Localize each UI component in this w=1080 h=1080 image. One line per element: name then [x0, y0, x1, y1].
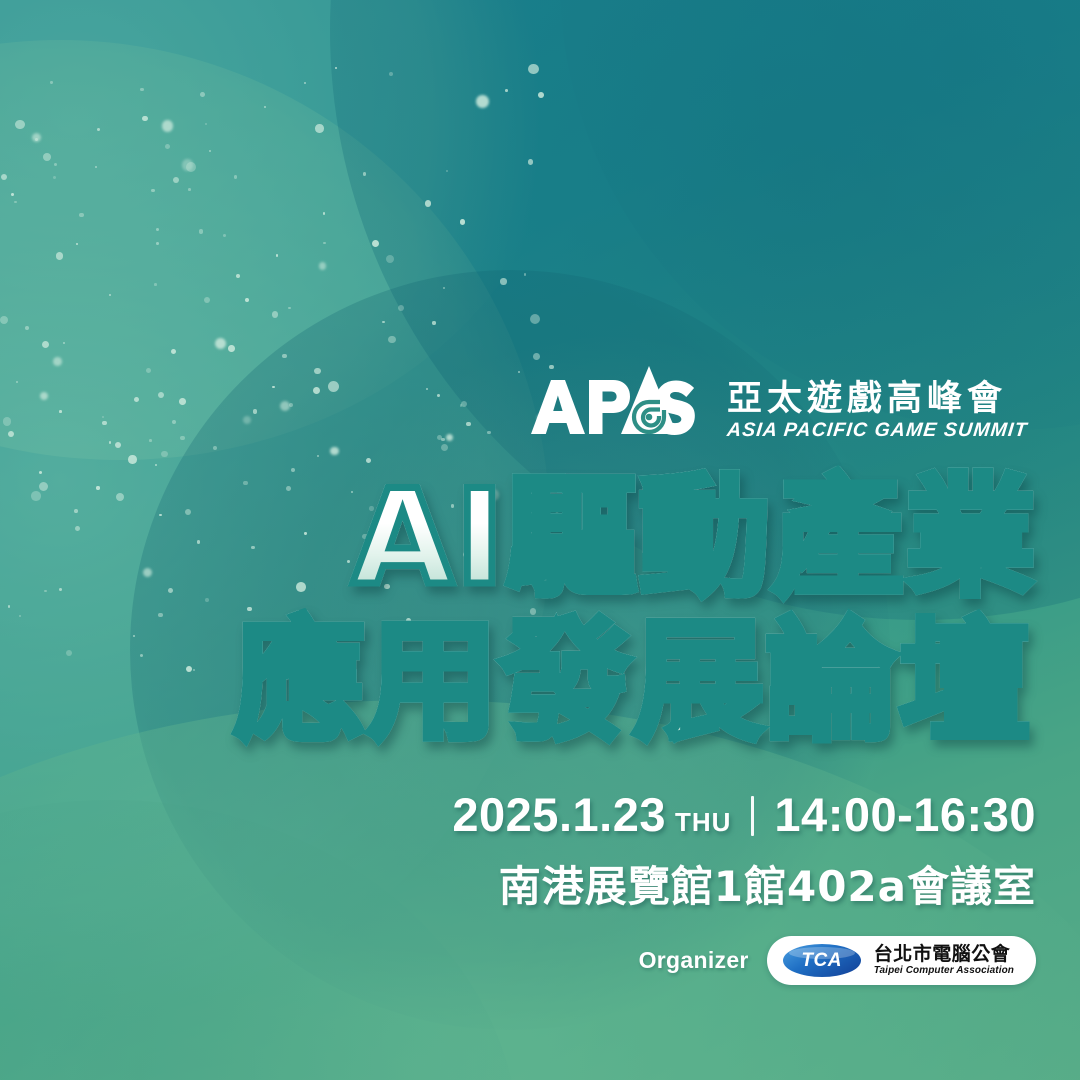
tca-abbr: TCA [801, 950, 842, 972]
apgs-logo-lockup: 亞太遊戲高峰會 ASIA PACIFIC GAME SUMMIT [527, 358, 1027, 442]
headline-line-1: AI驅動產業 [0, 466, 1038, 610]
tca-name-block: 台北市電腦公會 Taipei Computer Association [874, 945, 1014, 976]
tca-oval-icon: TCA [783, 944, 861, 977]
event-date: 2025.1.23 [452, 787, 666, 842]
tca-name-english: Taipei Computer Association [874, 966, 1014, 976]
datetime-separator-icon [751, 796, 754, 836]
headline-block: AI驅動產業 應用發展論壇 [0, 466, 1038, 754]
poster-canvas: 亞太遊戲高峰會 ASIA PACIFIC GAME SUMMIT AI驅動產業 … [0, 0, 1080, 1080]
content-layer: 亞太遊戲高峰會 ASIA PACIFIC GAME SUMMIT AI驅動產業 … [0, 0, 1080, 1080]
apgs-chinese-name: 亞太遊戲高峰會 [727, 382, 1027, 417]
event-venue: 南港展覽館1館402a會議室 [499, 853, 1036, 914]
apgs-wordmark-icon [527, 358, 707, 442]
apgs-english-name: ASIA PACIFIC GAME SUMMIT [726, 421, 1029, 441]
organizer-logo-badge: TCA 台北市電腦公會 Taipei Computer Association [767, 936, 1036, 985]
organizer-row: Organizer TCA 台北市電腦公會 Taipei Computer As… [639, 936, 1036, 985]
headline-line-2: 應用發展論壇 [0, 610, 1038, 754]
tca-name-chinese: 台北市電腦公會 [874, 945, 1014, 964]
event-datetime: 2025.1.23 THU 14:00-16:30 [452, 787, 1036, 842]
event-time: 14:00-16:30 [774, 787, 1036, 842]
apgs-logo-text: 亞太遊戲高峰會 ASIA PACIFIC GAME SUMMIT [727, 382, 1027, 443]
event-weekday: THU [675, 807, 731, 838]
organizer-label: Organizer [639, 947, 749, 974]
